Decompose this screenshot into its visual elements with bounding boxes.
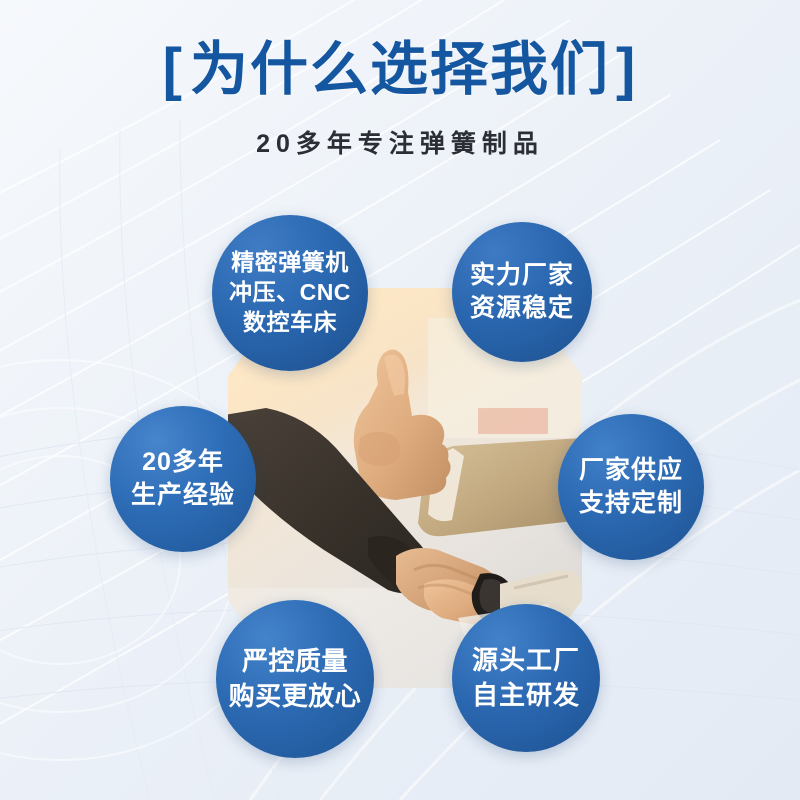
title-bracket-left: [ xyxy=(157,37,190,102)
feature-bubble-precision-spring-machine[interactable]: 精密弹簧机 冲压、CNC 数控车床 xyxy=(212,215,368,371)
feature-line: 冲压、CNC xyxy=(229,278,351,308)
feature-bubble-strong-factory[interactable]: 实力厂家 资源稳定 xyxy=(452,222,592,362)
feature-line: 自主研发 xyxy=(472,678,580,713)
promotional-poster: [为什么选择我们] 20多年专注弹簧制品 xyxy=(0,0,800,800)
feature-line: 生产经验 xyxy=(131,479,235,513)
feature-line: 源头工厂 xyxy=(472,643,580,678)
feature-line: 资源稳定 xyxy=(470,292,574,326)
feature-line: 严控质量 xyxy=(242,644,348,679)
feature-line: 支持定制 xyxy=(579,487,683,521)
feature-line: 购买更放心 xyxy=(229,679,362,714)
title-text: 为什么选择我们 xyxy=(190,37,610,102)
title-bracket-right: ] xyxy=(610,37,643,102)
feature-bubble-factory-supply-custom[interactable]: 厂家供应 支持定制 xyxy=(558,414,704,560)
feature-line: 20多年 xyxy=(142,446,224,480)
poster-header: [为什么选择我们] 20多年专注弹簧制品 xyxy=(0,0,800,160)
feature-line: 精密弹簧机 xyxy=(231,248,349,278)
feature-bubble-twenty-years-experience[interactable]: 20多年 生产经验 xyxy=(110,406,256,552)
page-title: [为什么选择我们] xyxy=(0,38,800,102)
feature-line: 数控车床 xyxy=(243,308,337,338)
feature-line: 实力厂家 xyxy=(470,259,574,293)
feature-bubble-source-factory-rd[interactable]: 源头工厂 自主研发 xyxy=(452,604,600,752)
feature-bubble-strict-quality-control[interactable]: 严控质量 购买更放心 xyxy=(216,600,374,758)
page-subtitle: 20多年专注弹簧制品 xyxy=(0,124,800,160)
feature-line: 厂家供应 xyxy=(579,454,683,488)
